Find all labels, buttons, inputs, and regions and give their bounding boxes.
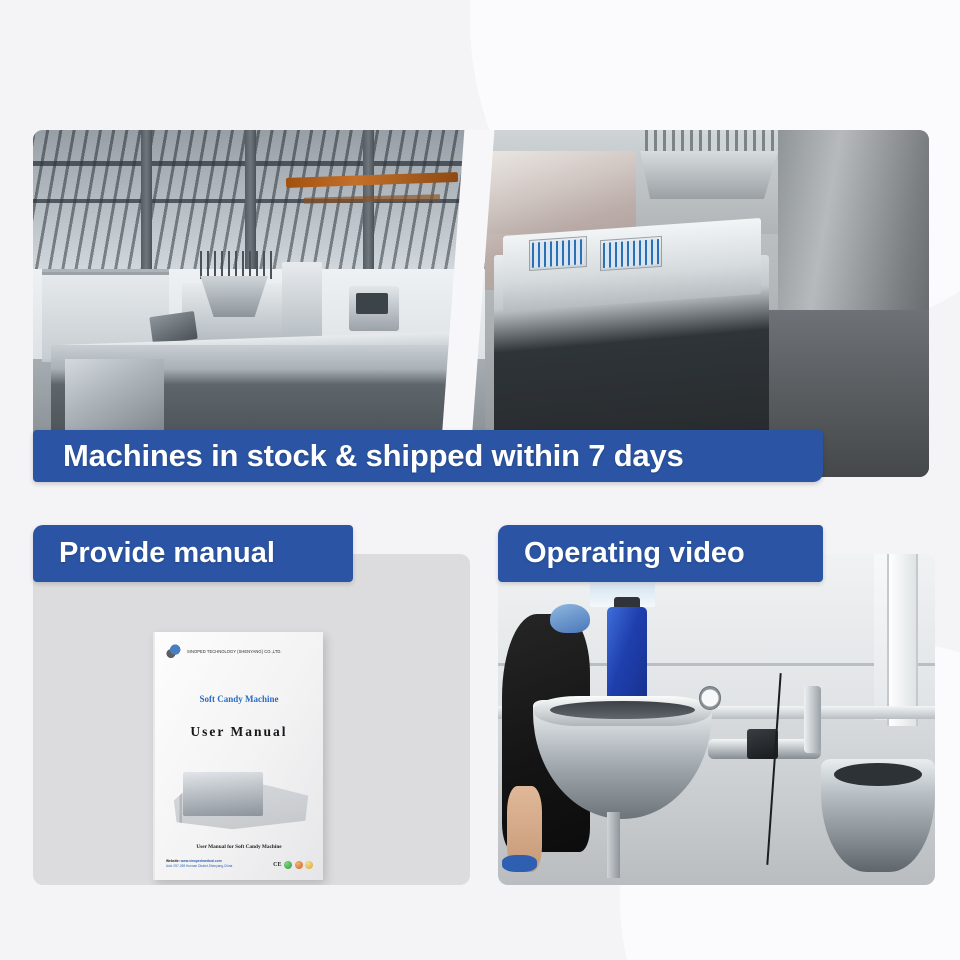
manual-website-value: www.sinopedmedical.com xyxy=(181,859,222,863)
manual-footer: Website: www.sinopedmedical.com Add: 097… xyxy=(166,859,313,869)
manual-product-title: Soft Candy Machine xyxy=(155,694,323,704)
manual-certification-marks: CE xyxy=(273,861,313,869)
manual-doc-type: User Manual xyxy=(155,724,323,740)
manual-caption: User Manual for Soft Candy Machine xyxy=(155,844,323,850)
depositing-machine-photo xyxy=(485,130,929,477)
manual-address-label: Add: xyxy=(166,864,173,868)
badge-operating-video: Operating video xyxy=(498,525,823,582)
hero-banner: Machines in stock & shipped within 7 day… xyxy=(33,430,823,482)
badge-provide-manual-label: Provide manual xyxy=(59,537,275,570)
badge-provide-manual: Provide manual xyxy=(33,525,353,582)
manual-machine-illustration-body xyxy=(183,772,263,816)
badge-operating-video-label: Operating video xyxy=(524,537,745,570)
manual-book-cover: SINOPED TECHNOLOGY (SHENYANG) CO.,LTD. S… xyxy=(153,632,323,880)
factory-workshop-photo xyxy=(33,130,485,477)
company-logo-icon xyxy=(165,644,182,660)
certification-green-icon xyxy=(284,861,292,869)
certification-orange-icon xyxy=(295,861,303,869)
manual-company-name: SINOPED TECHNOLOGY (SHENYANG) CO.,LTD. xyxy=(187,650,282,655)
card-provide-manual: SINOPED TECHNOLOGY (SHENYANG) CO.,LTD. S… xyxy=(33,525,470,885)
hero-photo-strip xyxy=(33,130,929,477)
operating-video-still xyxy=(498,554,935,885)
user-manual-cover-image: SINOPED TECHNOLOGY (SHENYANG) CO.,LTD. S… xyxy=(33,554,470,885)
card-operating-video: Operating video xyxy=(498,525,935,885)
promo-page: Machines in stock & shipped within 7 day… xyxy=(0,0,960,960)
manual-website-label: Website: xyxy=(166,859,180,863)
certification-yellow-icon xyxy=(305,861,313,869)
ce-mark-icon: CE xyxy=(273,862,281,868)
hero-banner-text: Machines in stock & shipped within 7 day… xyxy=(63,438,684,474)
manual-header: SINOPED TECHNOLOGY (SHENYANG) CO.,LTD. xyxy=(165,644,315,660)
manual-address-value: 097-269 Hunnan District,Shenyang,China xyxy=(173,864,232,868)
